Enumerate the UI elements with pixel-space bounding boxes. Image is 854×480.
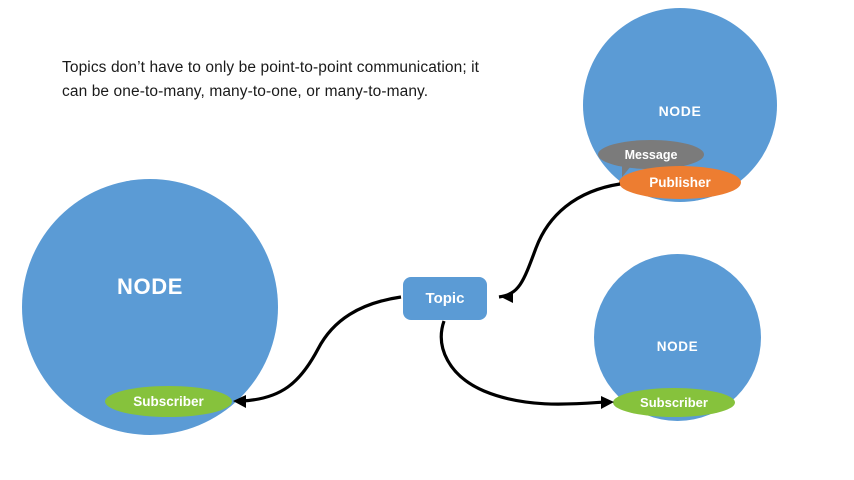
node-left-label: NODE xyxy=(22,274,278,300)
subscriber-bottom-right-label: Subscriber xyxy=(640,395,708,410)
subscriber-left-label: Subscriber xyxy=(133,394,204,409)
diagram-canvas: Topics don’t have to only be point-to-po… xyxy=(0,0,854,480)
arrow-publisher-to-topic xyxy=(499,184,620,303)
message-bubble[interactable]: Message xyxy=(598,140,704,169)
subscriber-oval-bottom-right[interactable]: Subscriber xyxy=(613,388,735,417)
topic-box[interactable]: Topic xyxy=(403,277,487,320)
node-bottom-right-label: NODE xyxy=(594,339,761,354)
subscriber-oval-left[interactable]: Subscriber xyxy=(105,386,232,417)
topic-label: Topic xyxy=(426,290,465,307)
publisher-label: Publisher xyxy=(649,175,711,190)
message-label: Message xyxy=(625,148,678,162)
node-top-right-label: NODE xyxy=(583,103,777,119)
arrow-topic-to-bottom-right-subscriber xyxy=(441,321,614,409)
publisher-oval[interactable]: Publisher xyxy=(619,166,741,199)
caption-text: Topics don’t have to only be point-to-po… xyxy=(62,56,492,103)
